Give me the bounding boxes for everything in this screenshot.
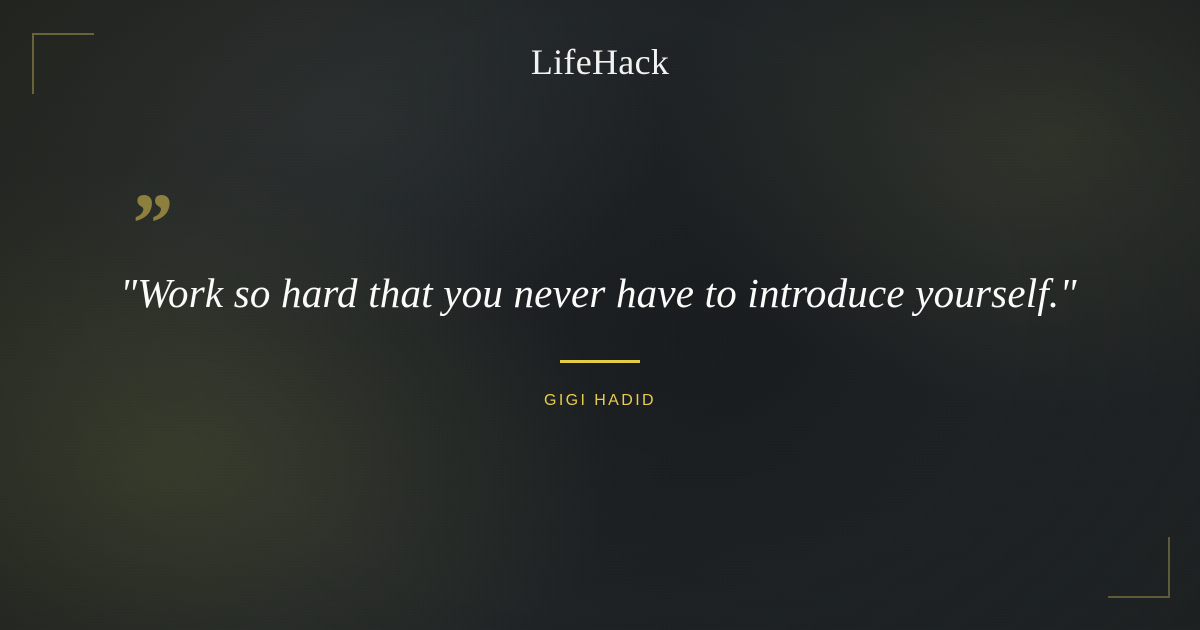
gold-divider: [560, 360, 640, 363]
quote-mark-icon: ”: [128, 180, 171, 266]
quote-author: GIGI HADID: [0, 391, 1200, 411]
quote-text: "Work so hard that you never have to int…: [120, 268, 1100, 318]
brand-wordmark: LifeHack: [0, 40, 1200, 84]
quote-poster: LifeHack ” "Work so hard that you never …: [0, 0, 1200, 630]
